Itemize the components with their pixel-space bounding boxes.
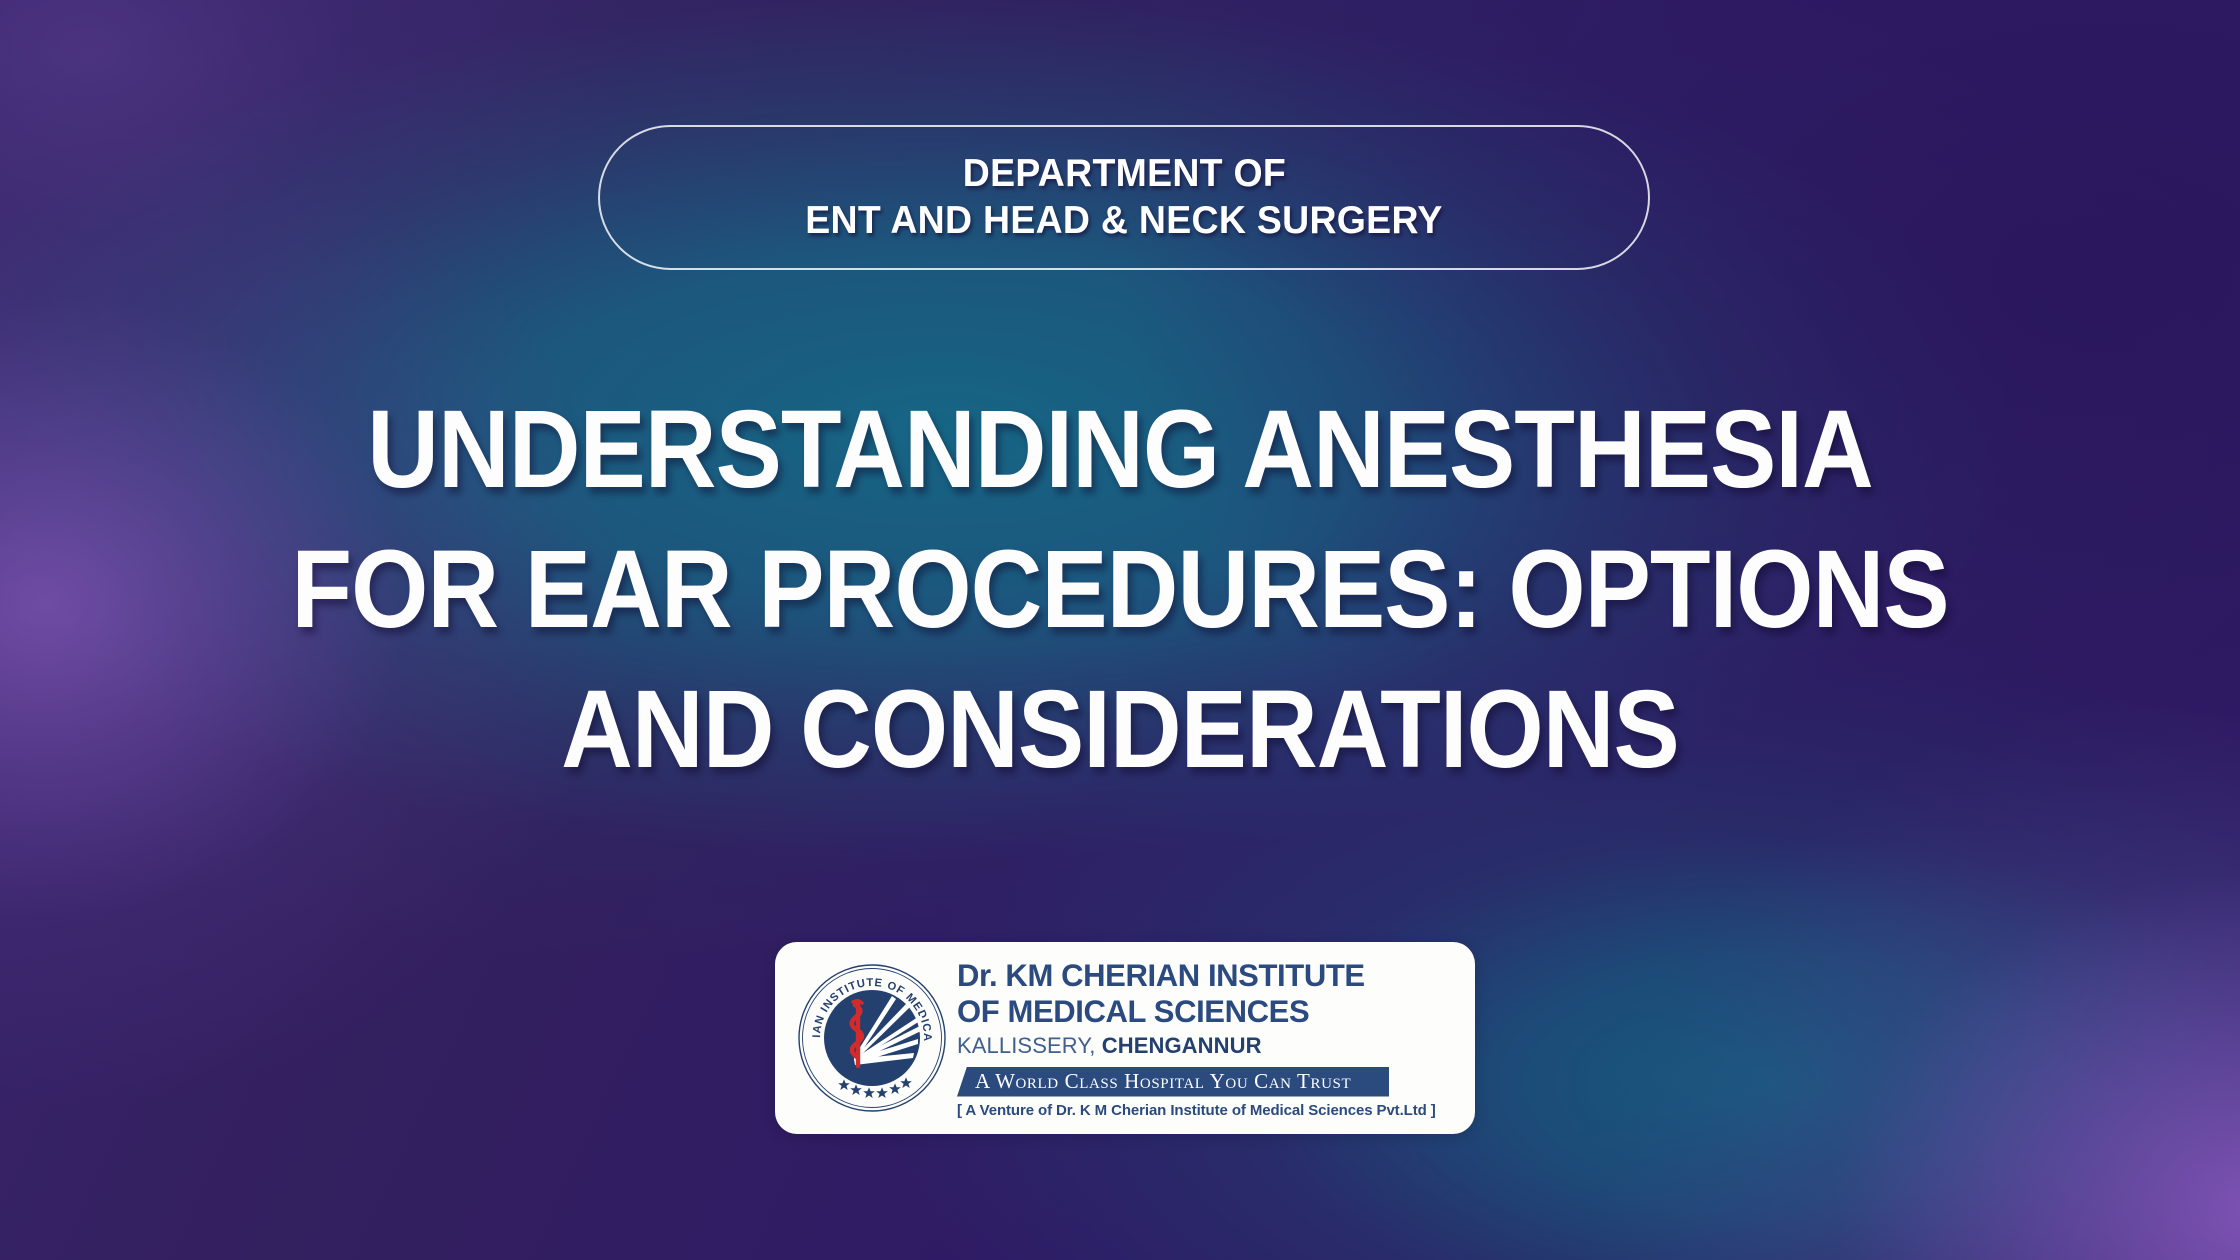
department-badge-line-2: ENT AND HEAD & NECK SURGERY	[805, 198, 1442, 244]
page-title-line-3: AND CONSIDERATIONS	[50, 656, 2189, 804]
institute-location-town: CHENGANNUR	[1102, 1033, 1262, 1058]
department-badge: DEPARTMENT OF ENT AND HEAD & NECK SURGER…	[598, 125, 1650, 270]
hospital-logo-text-block: Dr. KM CHERIAN INSTITUTE OF MEDICAL SCIE…	[957, 957, 1455, 1120]
slide-canvas: DEPARTMENT OF ENT AND HEAD & NECK SURGER…	[0, 0, 2240, 1260]
department-badge-line-1: DEPARTMENT OF	[962, 151, 1285, 197]
tagline-text: A World Class Hospital You Can Trust	[975, 1069, 1351, 1094]
venture-note: [ A Venture of Dr. K M Cherian Institute…	[957, 1102, 1455, 1120]
hospital-logo-card: Dr. KM CHERIAN INSTITUTE OF MEDICAL SCIE…	[775, 942, 1475, 1134]
page-title-line-2: FOR EAR PROCEDURES: OPTIONS	[50, 516, 2189, 664]
hospital-emblem-icon: Dr. KM CHERIAN INSTITUTE OF MEDICAL SCIE…	[797, 963, 947, 1113]
institute-location-city: KALLISSERY,	[957, 1033, 1096, 1058]
page-title-line-1: UNDERSTANDING ANESTHESIA	[50, 376, 2189, 524]
institute-name-line-2: OF MEDICAL SCIENCES	[957, 993, 1448, 1029]
page-title: UNDERSTANDING ANESTHESIA FOR EAR PROCEDU…	[0, 380, 2240, 800]
tagline-ribbon: A World Class Hospital You Can Trust	[957, 1067, 1389, 1097]
institute-location: KALLISSERY, CHENGANNUR	[957, 1033, 1455, 1059]
tagline-ribbon-shape: A World Class Hospital You Can Trust	[957, 1067, 1389, 1097]
institute-name-line-1: Dr. KM CHERIAN INSTITUTE	[957, 957, 1448, 993]
